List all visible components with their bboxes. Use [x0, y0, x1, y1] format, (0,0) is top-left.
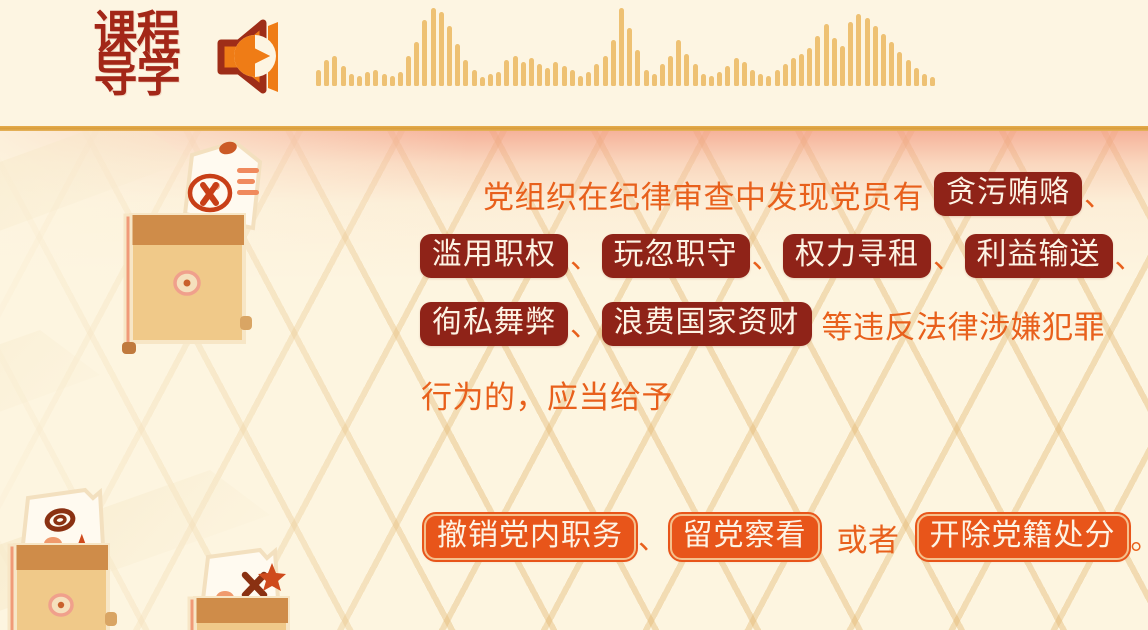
line4-text: 行为的，应当给予 [420, 372, 674, 417]
waveform-bar [529, 58, 534, 86]
waveform-bar [594, 64, 599, 86]
waveform-bar [889, 42, 894, 86]
waveform-bar [586, 72, 591, 86]
text-line-5: 撤销党内职务 、 留党察看 或者 开除党籍处分 。 [424, 508, 1148, 566]
waveform-bar [422, 20, 427, 86]
waveform-bar [439, 12, 444, 86]
speaker-play-icon[interactable] [208, 12, 302, 102]
waveform-bar [881, 34, 886, 86]
line5-conjunction: 或者 [836, 515, 901, 560]
waveform-bar [791, 58, 796, 86]
waveform-bar [455, 44, 460, 86]
waveform-bar [341, 66, 346, 86]
waveform-bar [504, 60, 509, 86]
waveform-bar [693, 64, 698, 86]
waveform-bar [349, 74, 354, 86]
waveform-bar [480, 77, 485, 86]
waveform-bar [807, 48, 812, 86]
violation-badge-dereliction[interactable]: 玩忽职守 [602, 234, 750, 278]
waveform-bar [635, 50, 640, 86]
waveform-bar [865, 18, 870, 86]
header-bar: 课程 导学 [0, 0, 1148, 128]
violation-badge-favoritism[interactable]: 徇私舞弊 [420, 302, 568, 346]
waveform-bar [365, 72, 370, 86]
text-line-1: 党组织在纪律审查中发现党员有 贪污贿赂 、 [482, 168, 1116, 220]
text-line-2: 滥用职权 、 玩忽职守 、 权力寻租 、 利益输送 、 [420, 230, 1146, 282]
waveform-bar [652, 74, 657, 86]
waveform-bar [873, 26, 878, 86]
waveform-bar [332, 56, 337, 86]
waveform-bar [775, 70, 780, 86]
waveform-bar [717, 72, 722, 86]
waveform-bar [701, 74, 706, 86]
waveform-bar [644, 70, 649, 86]
file-box-middle [6, 490, 117, 630]
header-divider [0, 126, 1148, 131]
waveform-bar [734, 58, 739, 86]
line1-separator: 、 [1082, 173, 1116, 215]
waveform-bar [856, 14, 861, 86]
separator: 、 [636, 516, 670, 558]
waveform-bar [750, 70, 755, 86]
waveform-bar [545, 68, 550, 86]
waveform-bar [562, 66, 567, 86]
waveform-bar [553, 62, 558, 86]
waveform-bar [382, 74, 387, 86]
waveform-bar [431, 8, 436, 86]
waveform-bar [414, 42, 419, 86]
violation-badge-benefit-transfer[interactable]: 利益输送 [965, 234, 1113, 278]
waveform-bar [472, 70, 477, 86]
waveform-bar [611, 40, 616, 86]
waveform-bar [463, 60, 468, 86]
waveform-bar [627, 28, 632, 86]
waveform-bar [513, 56, 518, 86]
waveform-bar [406, 56, 411, 86]
isometric-files-illustration [0, 120, 390, 630]
violation-badge-corruption[interactable]: 贪污贿赂 [934, 172, 1082, 216]
page-title: 课程 导学 [84, 10, 189, 102]
waveform-bar [824, 24, 829, 86]
audio-waveform[interactable] [316, 6, 1136, 86]
separator: 、 [568, 235, 602, 277]
waveform-bar [897, 52, 902, 86]
violation-badge-abuse-of-power[interactable]: 滥用职权 [420, 234, 568, 278]
waveform-bar [668, 56, 673, 86]
waveform-bar [684, 54, 689, 86]
waveform-bar [521, 62, 526, 86]
waveform-bar [619, 8, 624, 86]
line3-suffix: 等违反法律涉嫌犯罪 [821, 302, 1107, 347]
waveform-bar [447, 26, 452, 86]
waveform-bar [570, 70, 575, 86]
waveform-bar [742, 62, 747, 86]
waveform-bar [758, 74, 763, 86]
penalty-badge-removal-from-post[interactable]: 撤销党内职务 [424, 514, 636, 560]
waveform-bar [922, 74, 927, 86]
penalty-badge-expulsion[interactable]: 开除党籍处分 [917, 514, 1129, 560]
waveform-bar [578, 76, 583, 86]
waveform-bar [537, 64, 542, 86]
text-line-4: 行为的，应当给予 [420, 368, 674, 420]
waveform-bar [906, 60, 911, 86]
waveform-bar [725, 66, 730, 86]
slide-root: 党组织在纪律审查中发现党员有 贪污贿赂 、 滥用职权 、 玩忽职守 、 权力寻租… [0, 0, 1148, 630]
separator: 、 [750, 235, 784, 277]
waveform-bar [840, 46, 845, 86]
separator: 、 [1113, 235, 1147, 277]
waveform-bar [603, 56, 608, 86]
waveform-bar [316, 70, 321, 86]
line1-prefix: 党组织在纪律审查中发现党员有 [482, 172, 925, 217]
waveform-bar [848, 22, 853, 86]
body-text: 党组织在纪律审查中发现党员有 贪污贿赂 、 滥用职权 、 玩忽职守 、 权力寻租… [410, 168, 1110, 598]
waveform-bar [832, 38, 837, 86]
waveform-bar [660, 64, 665, 86]
penalty-badge-probation[interactable]: 留党察看 [670, 514, 820, 560]
waveform-bar [914, 68, 919, 86]
waveform-bar [324, 60, 329, 86]
file-box-bottom [186, 550, 297, 630]
waveform-bar [815, 36, 820, 86]
waveform-bar [357, 76, 362, 86]
waveform-bar [766, 76, 771, 86]
waveform-bar [373, 70, 378, 86]
waveform-bar [488, 74, 493, 86]
waveform-bar [930, 77, 935, 86]
waveform-bar [676, 40, 681, 86]
separator: 、 [931, 235, 965, 277]
separator: 、 [568, 303, 602, 345]
text-line-3: 徇私舞弊 、 浪费国家资财 等违反法律涉嫌犯罪 [420, 298, 1106, 350]
line5-period: 。 [1129, 516, 1148, 558]
waveform-bar [390, 76, 395, 86]
waveform-bar [709, 76, 714, 86]
waveform-bar [799, 54, 804, 86]
violation-badge-waste-of-state-assets[interactable]: 浪费国家资财 [602, 302, 812, 346]
waveform-bar [783, 64, 788, 86]
page-title-line-2: 导学 [94, 54, 180, 98]
violation-badge-rent-seeking[interactable]: 权力寻租 [783, 234, 931, 278]
waveform-bar [496, 72, 501, 86]
waveform-bar [398, 72, 403, 86]
